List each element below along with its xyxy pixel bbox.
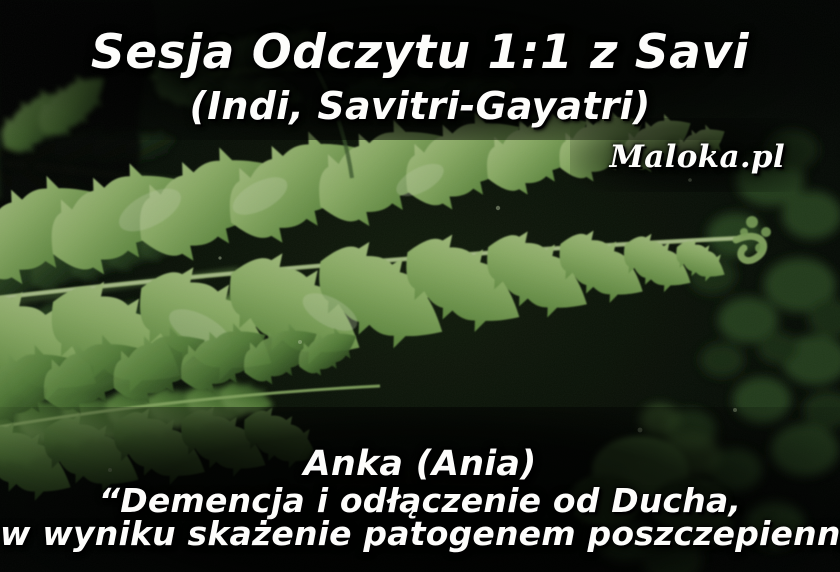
poster-title-line-1: Sesja Odczytu 1:1 z Savi	[0, 24, 840, 82]
watermark-maloka: Maloka.pl	[610, 136, 785, 178]
poster-title-line-2: (Indi, Savitri-Gayatri)	[0, 82, 840, 130]
quote-line-2: w wyniku skażenie patogenem poszczepienn…	[0, 513, 840, 555]
poster: Sesja Odczytu 1:1 z Savi (Indi, Savitri-…	[0, 0, 840, 572]
